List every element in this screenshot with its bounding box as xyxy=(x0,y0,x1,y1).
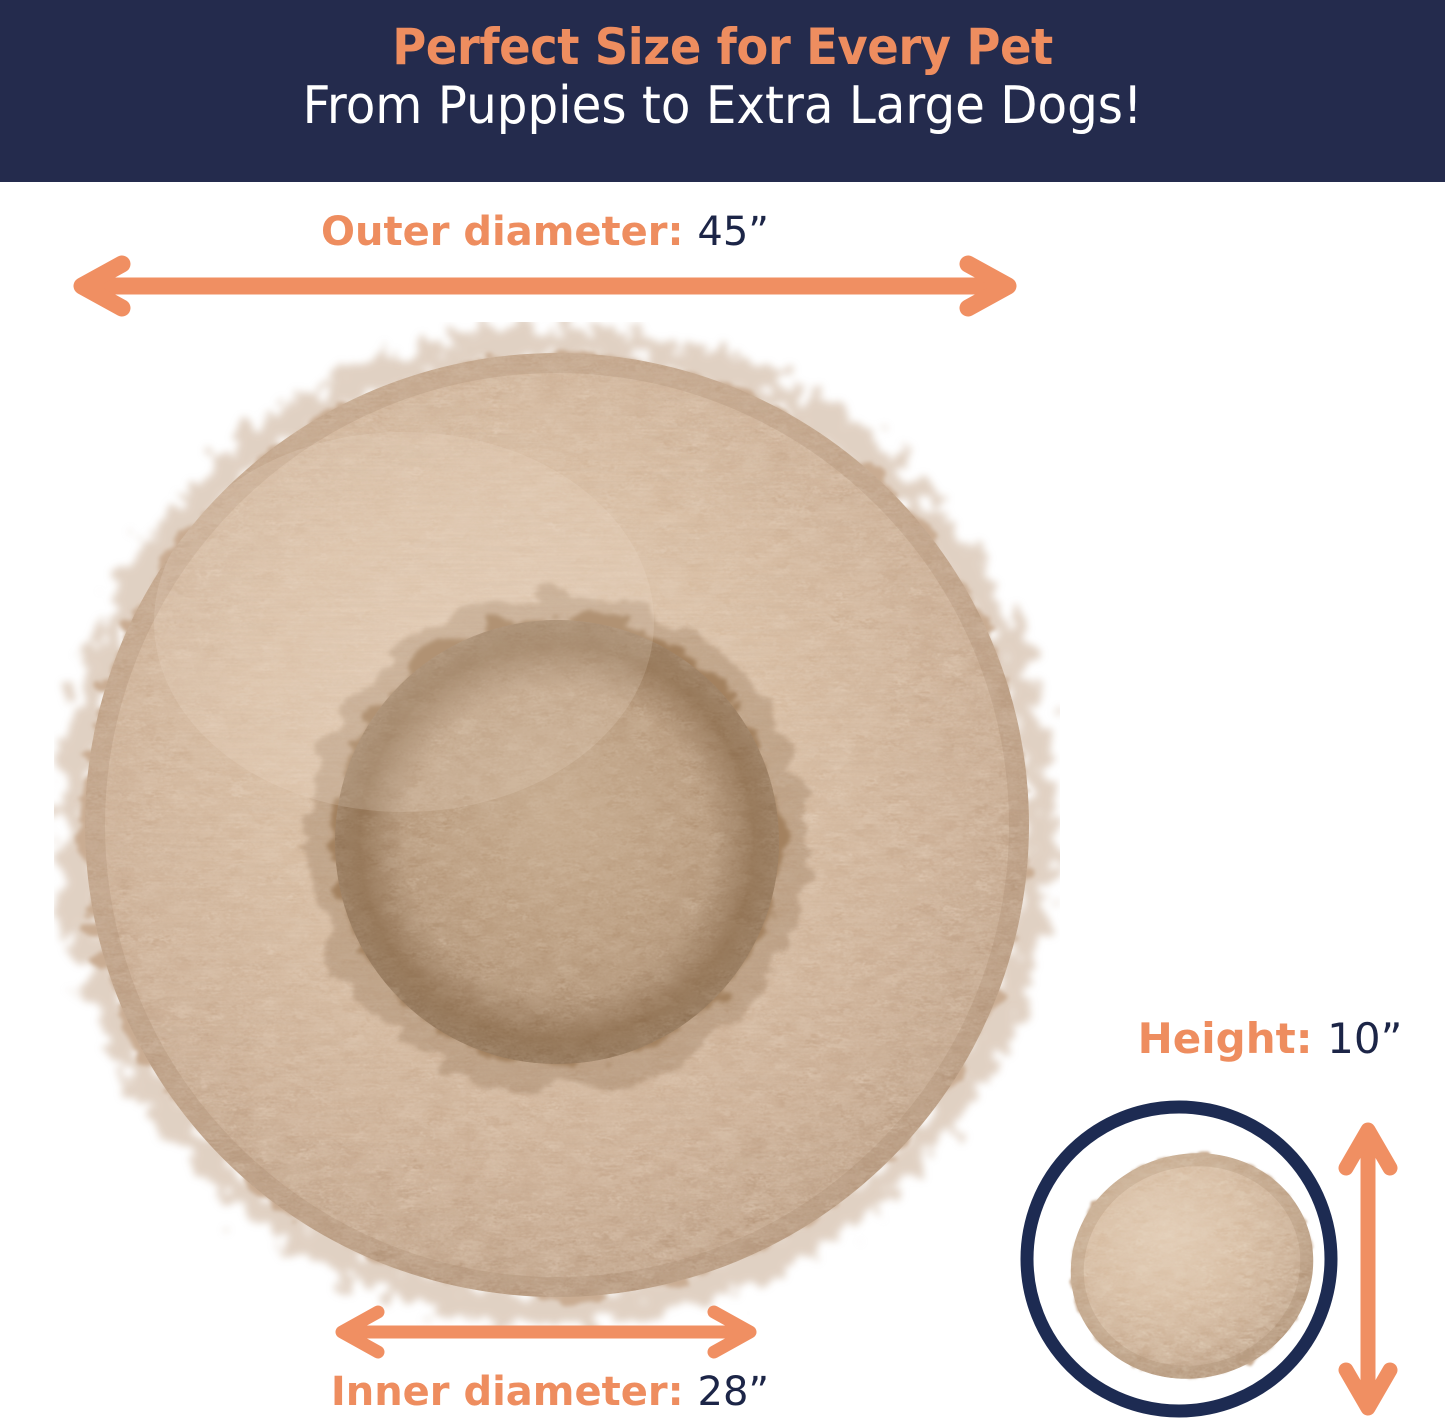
pet-bed-side-view-inset xyxy=(1014,1094,1344,1424)
height-value: 10” xyxy=(1327,1014,1402,1063)
height-arrow-icon xyxy=(1332,1112,1404,1421)
height-label: Height: 10” xyxy=(1100,1018,1440,1060)
height-key: Height: xyxy=(1138,1014,1328,1063)
inner-diameter-value: 28” xyxy=(698,1369,770,1415)
outer-diameter-key: Outer diameter: xyxy=(321,209,697,255)
outer-diameter-label: Outer diameter: 45” xyxy=(0,212,1090,252)
banner-subtitle: From Puppies to Extra Large Dogs! xyxy=(51,74,1395,134)
inner-diameter-key: Inner diameter: xyxy=(331,1369,698,1415)
banner-title: Perfect Size for Every Pet xyxy=(51,0,1395,74)
inner-diameter-arrow-icon xyxy=(326,1306,766,1358)
inner-diameter-label: Inner diameter: 28” xyxy=(240,1372,860,1412)
header-banner: Perfect Size for Every Pet From Puppies … xyxy=(0,0,1445,182)
pet-bed-top-view-image xyxy=(54,322,1060,1328)
outer-diameter-value: 45” xyxy=(697,209,769,255)
outer-diameter-arrow-icon xyxy=(60,258,1030,314)
